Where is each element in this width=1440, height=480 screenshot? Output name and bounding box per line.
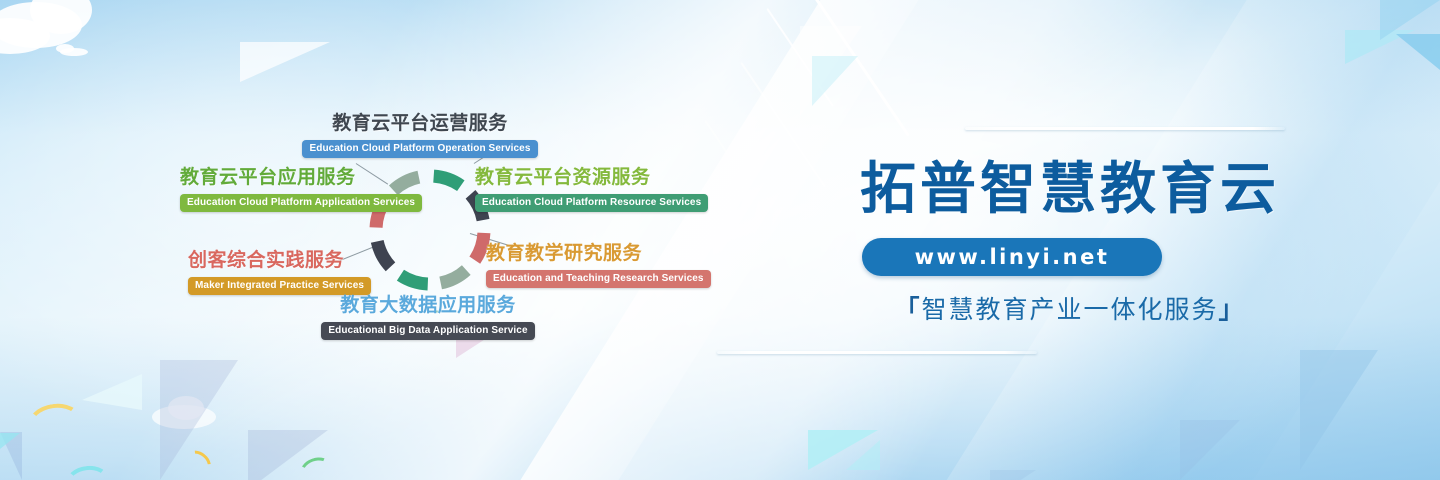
tagline: 「智慧教育产业一体化服务」 xyxy=(700,294,1440,326)
service-node-resource-en: Education Cloud Platform Resource Servic… xyxy=(475,194,708,212)
service-node-research-cn: 教育教学研究服务 xyxy=(486,243,711,265)
service-node-resource-cn: 教育云平台资源服务 xyxy=(475,167,708,189)
tagline-text: 智慧教育产业一体化服务 xyxy=(921,296,1218,324)
bracket-close-icon: 」 xyxy=(1219,296,1246,324)
service-node-application-en: Education Cloud Platform Application Ser… xyxy=(180,194,422,212)
service-node-maker[interactable]: 创客综合实践服务 Maker Integrated Practice Servi… xyxy=(188,250,371,295)
promo-banner: 教育云平台运营服务 Education Cloud Platform Opera… xyxy=(0,0,1440,480)
page-title: 拓普智慧教育云 xyxy=(700,158,1440,220)
service-node-research-en: Education and Teaching Research Services xyxy=(486,270,711,288)
service-node-maker-en: Maker Integrated Practice Services xyxy=(188,277,371,295)
service-node-bigdata[interactable]: 教育大数据应用服务 Educational Big Data Applicati… xyxy=(308,295,548,340)
divider-line-top xyxy=(965,127,1285,130)
bracket-open-icon: 「 xyxy=(894,296,921,324)
service-node-operation-cn: 教育云平台运营服务 xyxy=(300,113,540,135)
website-url-badge[interactable]: www.linyi.net xyxy=(862,238,1162,276)
brand-text-block: 拓普智慧教育云 www.linyi.net 「智慧教育产业一体化服务」 xyxy=(700,0,1440,480)
service-ring-diagram: 教育云平台运营服务 Education Cloud Platform Opera… xyxy=(150,105,690,355)
service-node-bigdata-cn: 教育大数据应用服务 xyxy=(308,295,548,317)
service-node-resource[interactable]: 教育云平台资源服务 Education Cloud Platform Resou… xyxy=(475,167,708,212)
service-node-research[interactable]: 教育教学研究服务 Education and Teaching Research… xyxy=(486,243,711,288)
triangle-decoration xyxy=(0,433,20,449)
service-node-application[interactable]: 教育云平台应用服务 Education Cloud Platform Appli… xyxy=(180,167,422,212)
service-node-operation[interactable]: 教育云平台运营服务 Education Cloud Platform Opera… xyxy=(300,113,540,158)
website-url-text: www.linyi.net xyxy=(915,245,1110,269)
triangle-decoration xyxy=(240,42,330,82)
triangle-decoration xyxy=(82,374,142,410)
service-node-operation-en: Education Cloud Platform Operation Servi… xyxy=(302,140,537,158)
cloud-shape xyxy=(60,48,88,56)
service-node-maker-cn: 创客综合实践服务 xyxy=(188,250,371,272)
service-node-application-cn: 教育云平台应用服务 xyxy=(180,167,422,189)
divider-line-bottom xyxy=(717,351,1037,354)
service-node-bigdata-en: Educational Big Data Application Service xyxy=(321,322,534,340)
